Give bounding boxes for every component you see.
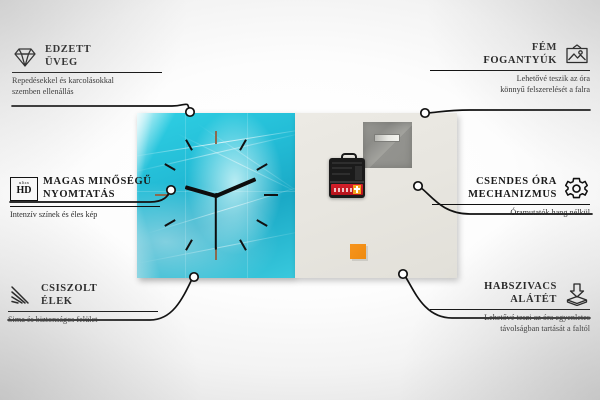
feature-title: FÉM FOGANTYÚK <box>483 42 557 67</box>
feature-polished-edges: CSISZOLT ÉLEK Sima és biztonságos felüle… <box>8 283 168 326</box>
title-rule <box>12 72 162 73</box>
title-rule <box>432 204 590 205</box>
battery <box>331 184 363 195</box>
title-rule <box>10 206 160 207</box>
feature-description: Lehetővé teszik az óra könnyű felszerelé… <box>430 74 590 95</box>
feature-description: Lehetővé teszi az óra egyenletes távolsá… <box>430 313 590 334</box>
foam-pad-sample <box>350 244 366 259</box>
feature-metal-handles: FÉM FOGANTYÚK Lehetővé teszik az óra kön… <box>430 42 590 95</box>
feature-tempered-glass: EDZETT ÜVEG Repedésekkel és karcolásokka… <box>12 44 172 97</box>
feature-description: Sima és biztonságos felület <box>8 315 168 326</box>
diamond-icon <box>12 45 38 69</box>
feature-high-quality-print: ultra HD MAGAS MINŐSÉGŰ NYOMTATÁS Intenz… <box>10 176 170 221</box>
feature-title: CSENDES ÓRA MECHANIZMUS <box>468 176 557 201</box>
badge-main-label: HD <box>17 186 32 196</box>
press-down-pad-icon <box>564 282 590 306</box>
polished-edges-icon <box>8 284 34 308</box>
product-infographic: EDZETT ÜVEG Repedésekkel és karcolásokka… <box>0 0 600 400</box>
picture-hanger-icon <box>564 43 590 67</box>
feature-title: CSISZOLT ÉLEK <box>41 283 97 308</box>
title-rule <box>8 311 158 312</box>
feature-description: Óramutatók hang nélkül <box>432 208 590 219</box>
feature-title: MAGAS MINŐSÉGŰ NYOMTATÁS <box>43 176 151 201</box>
product-photo-group <box>137 113 457 278</box>
feature-title: EDZETT ÜVEG <box>45 44 91 69</box>
clock-tick <box>215 131 217 144</box>
feature-description: Repedésekkel és karcolásokkal szemben el… <box>12 76 172 97</box>
battery-label-stripes <box>334 188 352 192</box>
metal-hanger-bracket <box>363 122 412 168</box>
leader-line-tempered-glass <box>12 104 189 110</box>
ultra-hd-badge-icon: ultra HD <box>10 177 36 201</box>
feature-foam-pad: HABSZIVACS ALÁTÉT Lehetővé teszi az óra … <box>430 281 590 334</box>
gear-icon <box>564 177 590 201</box>
second-hand <box>215 195 217 249</box>
title-rule <box>430 70 590 71</box>
hanger-slot <box>374 134 400 142</box>
title-rule <box>430 309 590 310</box>
feature-description: Intenzív színek és éles kép <box>10 210 170 221</box>
clock-hand-cap <box>214 193 219 198</box>
feature-title: HABSZIVACS ALÁTÉT <box>484 281 557 306</box>
battery-positive-terminal <box>353 185 361 194</box>
clock-mechanism <box>329 158 365 198</box>
clock-tick <box>264 194 278 196</box>
feature-quiet-mechanism: CSENDES ÓRA MECHANIZMUS Óramutatók hang … <box>432 176 590 219</box>
